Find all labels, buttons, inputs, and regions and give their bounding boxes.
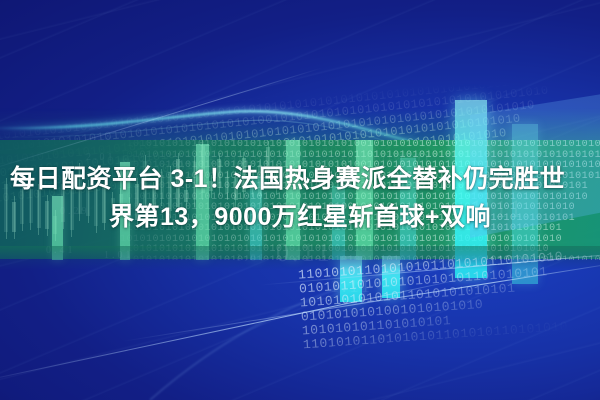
vignette <box>0 0 600 400</box>
thumbnail-image: 0100101011010100101010101010101001010101… <box>0 0 600 400</box>
